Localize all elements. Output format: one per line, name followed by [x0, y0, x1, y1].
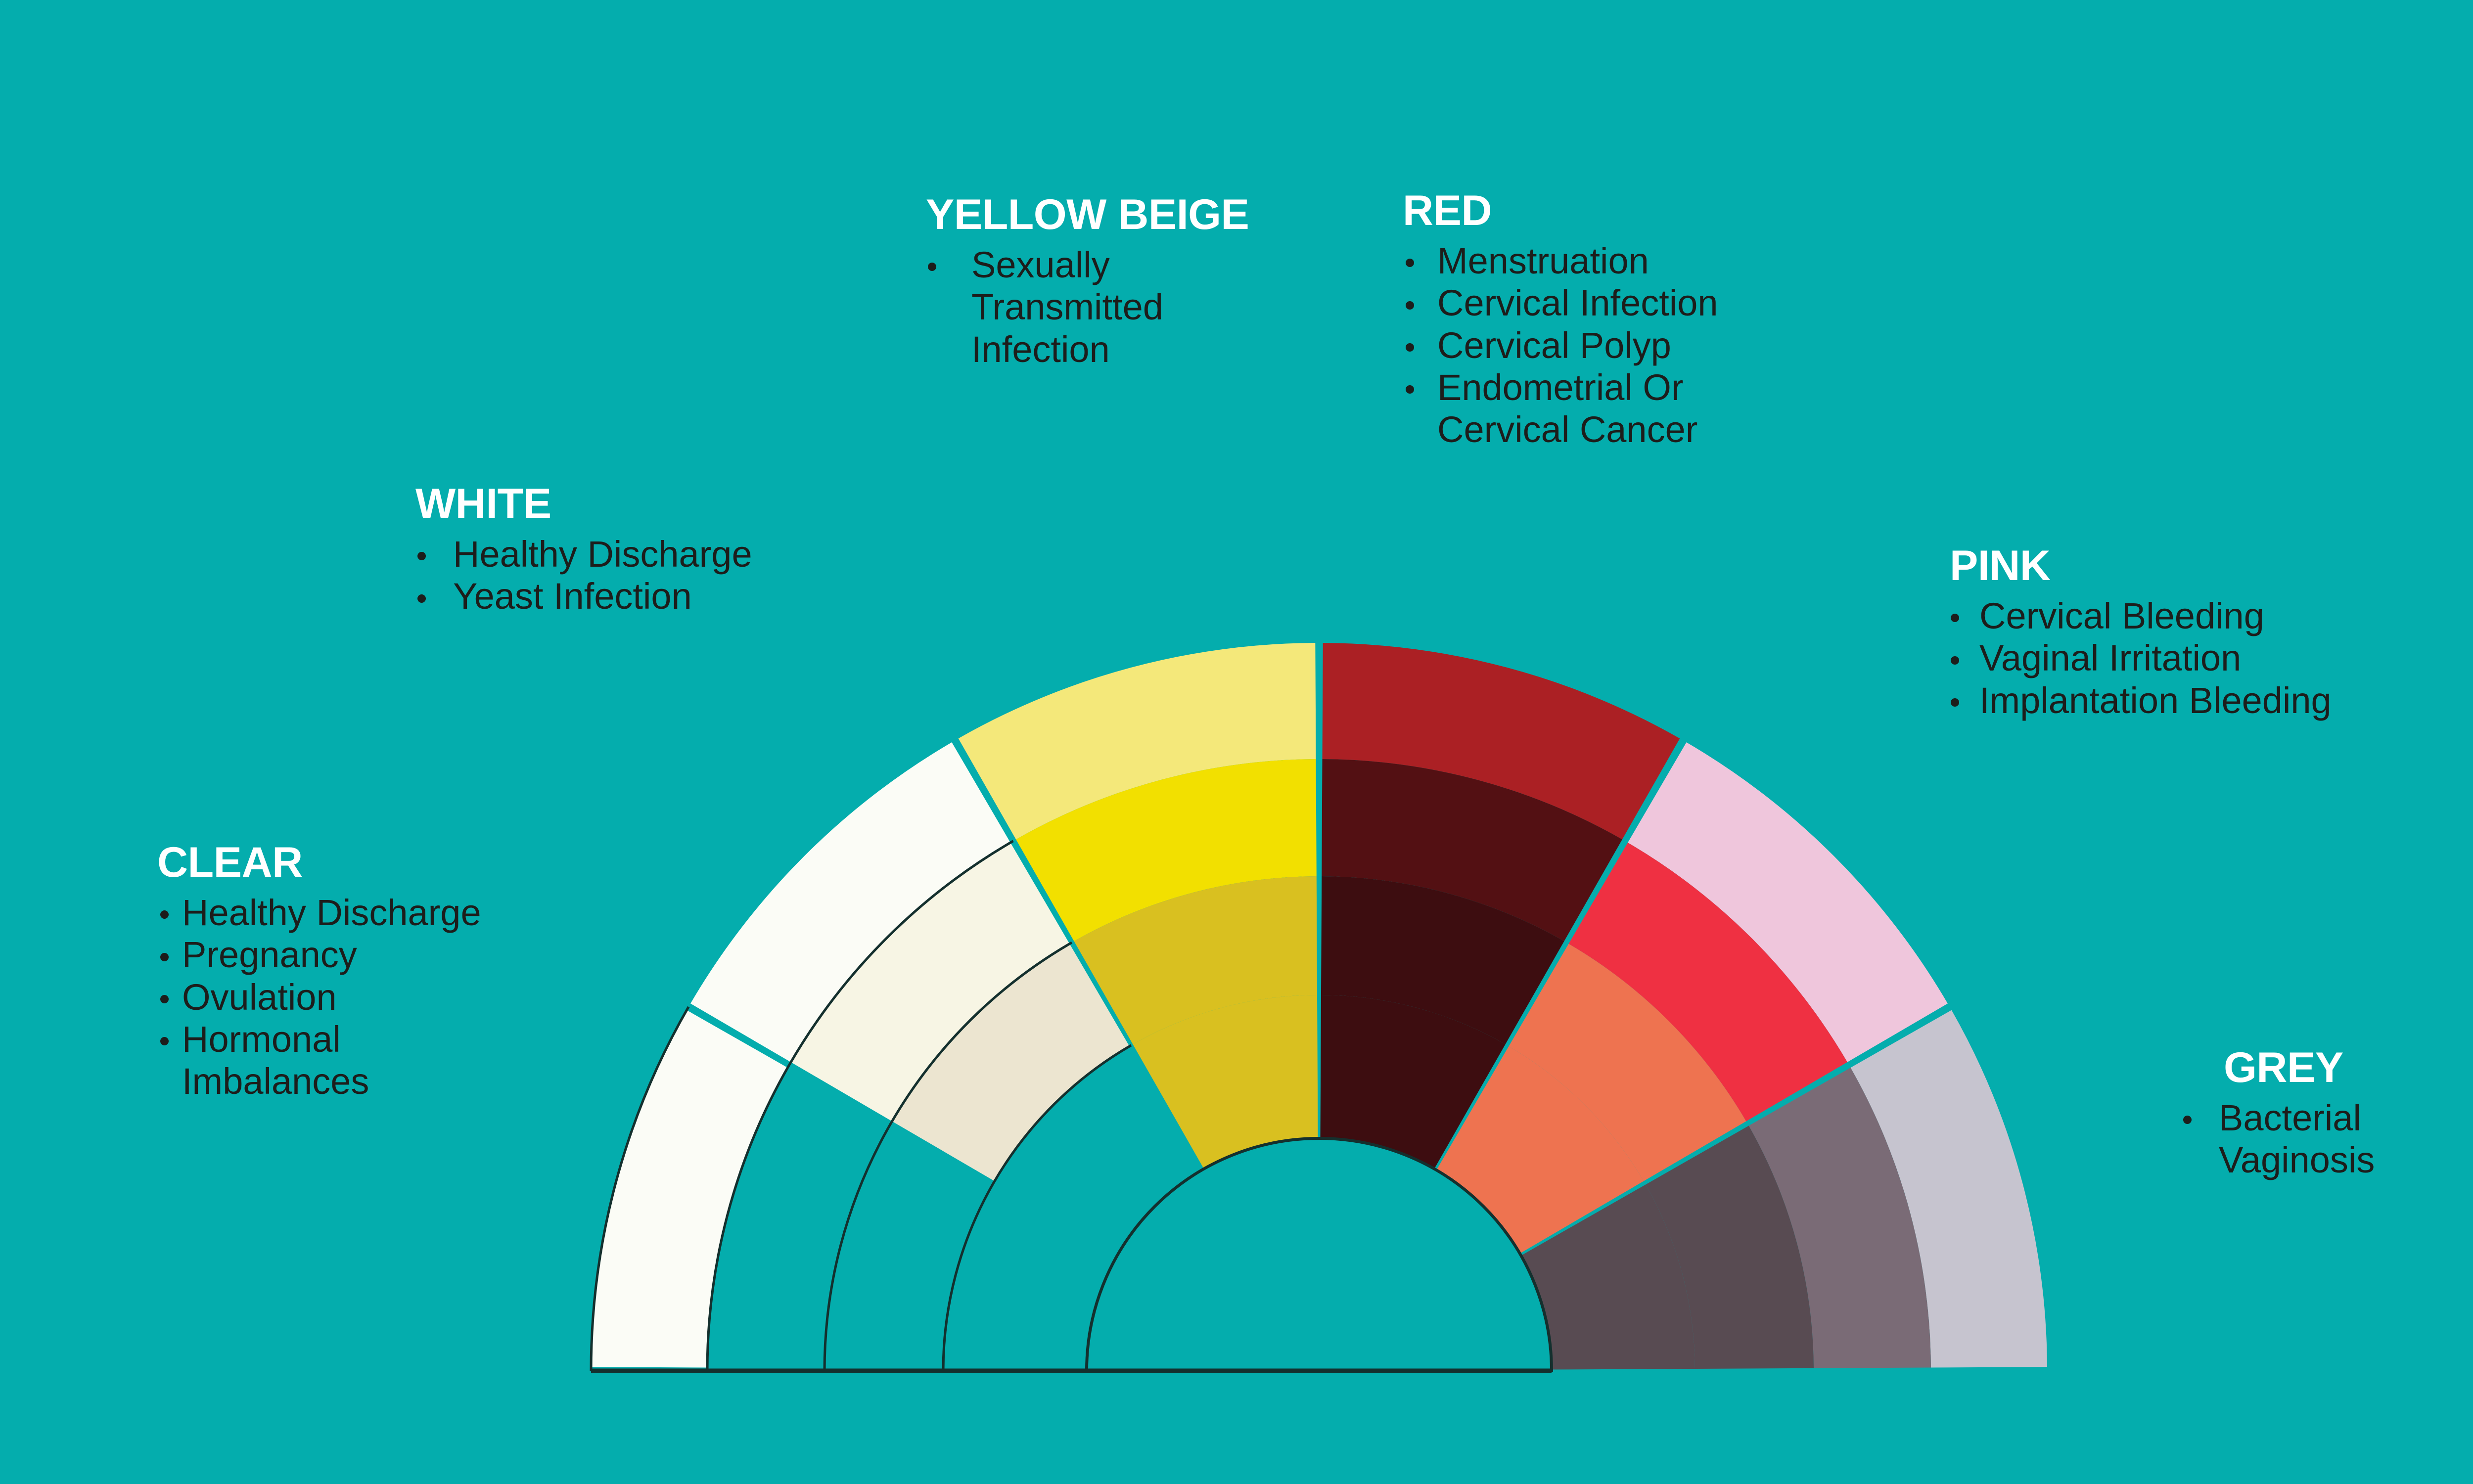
legend-item-label: Healthy Discharge: [453, 534, 752, 575]
legend-list-item: Cervical Polyp: [1399, 324, 1874, 366]
legend-list-item: Vaginal Irritation: [1944, 637, 2473, 679]
legend-list-item: Sexually Transmitted Infection: [921, 244, 1297, 370]
legend-block-pink: PINK Cervical BleedingVaginal Irritation…: [1944, 544, 2473, 721]
bullet-dot-icon: [1951, 698, 1959, 707]
legend-item-label: Ovulation: [182, 977, 337, 1018]
legend-item-label: Cervical Infection: [1437, 282, 1718, 323]
legend-list-item: Cervical Infection: [1399, 282, 1874, 324]
bullet-dot-icon: [417, 594, 426, 603]
legend-block-clear: CLEAR Healthy DischargePregnancyOvulatio…: [153, 841, 618, 1103]
legend-list-white: Healthy DischargeYeast Infection: [411, 533, 905, 618]
legend-block-yellow-beige: YELLOW BEIGE Sexually Transmitted Infect…: [921, 193, 1297, 370]
legend-item-label: Cervical Polyp: [1437, 325, 1671, 366]
bullet-dot-icon: [417, 552, 426, 560]
legend-title-pink: PINK: [1950, 544, 2473, 588]
legend-list-item: Implantation Bleeding: [1944, 679, 2473, 721]
bullet-dot-icon: [928, 263, 936, 271]
infographic-canvas: CLEAR Healthy DischargePregnancyOvulatio…: [0, 0, 2473, 1484]
bullet-dot-icon: [1951, 614, 1959, 622]
legend-title-red: RED: [1403, 189, 1874, 233]
legend-block-grey: GREY Bacterial Vaginosis: [2176, 1046, 2473, 1181]
legend-list-item: Hormonal Imbalances: [153, 1018, 618, 1103]
bullet-dot-icon: [1406, 385, 1414, 394]
bullet-dot-icon: [2183, 1116, 2192, 1124]
bullet-dot-icon: [160, 1037, 169, 1045]
legend-item-label: Sexually Transmitted Infection: [971, 244, 1163, 370]
bullet-dot-icon: [1406, 259, 1414, 267]
legend-item-label: Bacterial Vaginosis: [2219, 1097, 2375, 1180]
legend-list-item: Ovulation: [153, 976, 618, 1018]
legend-item-label: Implantation Bleeding: [1979, 680, 2332, 721]
bullet-dot-icon: [160, 995, 169, 1003]
bullet-dot-icon: [1951, 656, 1959, 665]
legend-item-label: Vaginal Irritation: [1979, 637, 2241, 678]
legend-list-item: Healthy Discharge: [153, 892, 618, 934]
legend-item-label: Endometrial Or Cervical Cancer: [1437, 367, 1697, 450]
legend-item-label: Yeast Infection: [453, 576, 692, 617]
legend-list-red: MenstruationCervical InfectionCervical P…: [1399, 240, 1874, 451]
bullet-dot-icon: [160, 910, 169, 919]
legend-list-pink: Cervical BleedingVaginal IrritationImpla…: [1944, 595, 2473, 721]
legend-title-clear: CLEAR: [157, 841, 618, 885]
legend-item-label: Menstruation: [1437, 240, 1649, 281]
bullet-dot-icon: [1406, 301, 1414, 310]
legend-title-yellow-beige: YELLOW BEIGE: [926, 193, 1297, 237]
legend-block-white: WHITE Healthy DischargeYeast Infection: [411, 482, 905, 618]
legend-item-label: Hormonal Imbalances: [182, 1019, 369, 1102]
legend-title-white: WHITE: [415, 482, 905, 526]
fan-band-clear-0: [591, 1010, 787, 1368]
legend-list-item: Bacterial Vaginosis: [2176, 1097, 2473, 1181]
legend-list-item: Endometrial Or Cervical Cancer: [1399, 366, 1874, 451]
legend-list-item: Healthy Discharge: [411, 533, 905, 575]
legend-item-label: Cervical Bleeding: [1979, 595, 2264, 636]
legend-item-label: Pregnancy: [182, 934, 357, 975]
bullet-dot-icon: [160, 953, 169, 961]
legend-list-item: Cervical Bleeding: [1944, 595, 2473, 637]
legend-list-clear: Healthy DischargePregnancyOvulationHormo…: [153, 892, 618, 1103]
bullet-dot-icon: [1406, 343, 1414, 352]
legend-list-item: Menstruation: [1399, 240, 1874, 282]
legend-list-grey: Bacterial Vaginosis: [2176, 1097, 2473, 1181]
legend-list-item: Yeast Infection: [411, 575, 905, 617]
legend-list-item: Pregnancy: [153, 934, 618, 976]
legend-title-grey: GREY: [2224, 1046, 2473, 1090]
legend-item-label: Healthy Discharge: [182, 892, 481, 933]
legend-list-yellow-beige: Sexually Transmitted Infection: [921, 244, 1297, 370]
legend-block-red: RED MenstruationCervical InfectionCervic…: [1399, 189, 1874, 451]
